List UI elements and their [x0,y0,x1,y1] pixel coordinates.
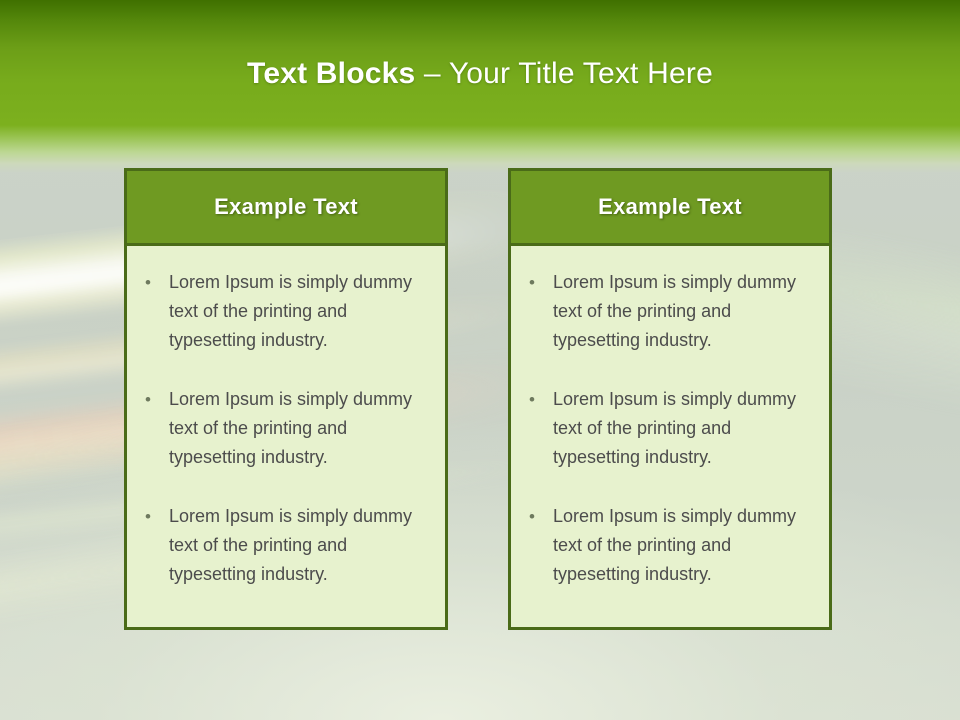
list-item: • Lorem Ipsum is simply dummy text of th… [141,502,431,589]
text-block-right: Example Text • Lorem Ipsum is simply dum… [508,168,832,630]
bullet-icon: • [525,268,553,297]
text-block-left-body: • Lorem Ipsum is simply dummy text of th… [124,246,448,630]
bullet-icon: • [141,268,169,297]
text-block-left-header[interactable]: Example Text [124,168,448,246]
bullet-icon: • [141,502,169,531]
list-item: • Lorem Ipsum is simply dummy text of th… [141,268,431,355]
bullet-icon: • [525,502,553,531]
page-title-separator: – [415,57,448,90]
text-block-right-body: • Lorem Ipsum is simply dummy text of th… [508,246,832,630]
bullet-icon: • [525,385,553,414]
bullet-text: Lorem Ipsum is simply dummy text of the … [553,268,815,355]
page-title-bold: Text Blocks [247,57,415,90]
bullet-text: Lorem Ipsum is simply dummy text of the … [169,385,431,472]
text-block-left: Example Text • Lorem Ipsum is simply dum… [124,168,448,630]
bullet-list-left: • Lorem Ipsum is simply dummy text of th… [141,268,431,589]
page-title-light: Your Title Text Here [449,57,713,90]
slide-canvas: Text Blocks – Your Title Text Here Examp… [0,0,960,720]
list-item: • Lorem Ipsum is simply dummy text of th… [525,502,815,589]
text-blocks-container: Example Text • Lorem Ipsum is simply dum… [124,168,832,630]
bullet-text: Lorem Ipsum is simply dummy text of the … [553,385,815,472]
text-block-right-header-label: Example Text [598,194,742,220]
bullet-text: Lorem Ipsum is simply dummy text of the … [169,502,431,589]
text-block-left-header-label: Example Text [214,194,358,220]
list-item: • Lorem Ipsum is simply dummy text of th… [525,268,815,355]
page-title: Text Blocks – Your Title Text Here [0,52,960,96]
bullet-icon: • [141,385,169,414]
text-block-right-header[interactable]: Example Text [508,168,832,246]
list-item: • Lorem Ipsum is simply dummy text of th… [141,385,431,472]
bullet-text: Lorem Ipsum is simply dummy text of the … [169,268,431,355]
title-band-fade [0,125,960,173]
bullet-list-right: • Lorem Ipsum is simply dummy text of th… [525,268,815,589]
list-item: • Lorem Ipsum is simply dummy text of th… [525,385,815,472]
bullet-text: Lorem Ipsum is simply dummy text of the … [553,502,815,589]
